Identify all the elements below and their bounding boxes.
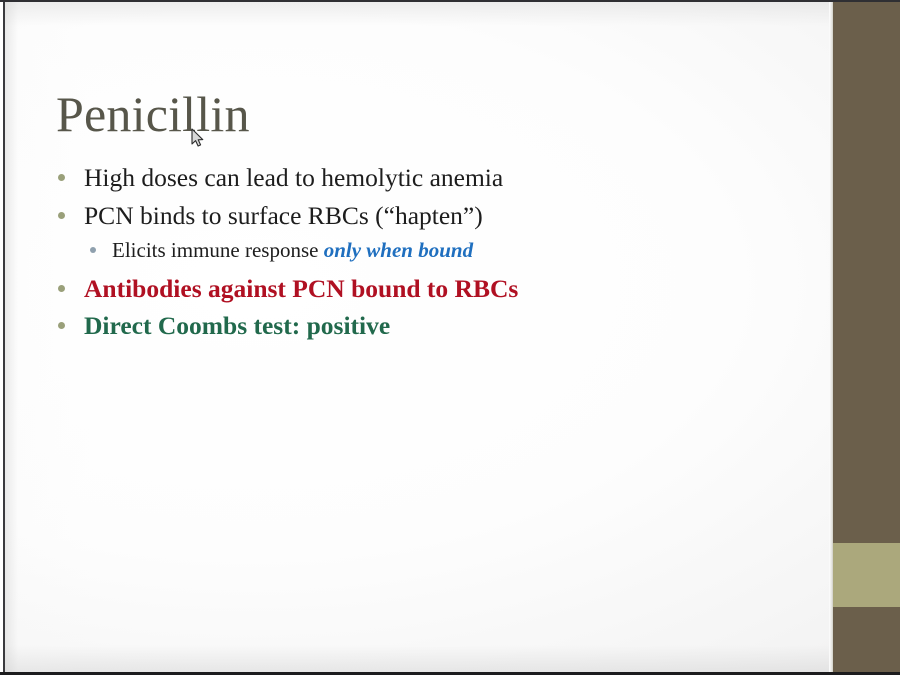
page-title: Penicillin (56, 87, 250, 141)
frame-edge-left (3, 0, 5, 675)
sidebar-accent-block (833, 543, 900, 607)
sub-list-item: Elicits immune response only when bound (58, 239, 758, 263)
bullet-dot-icon (58, 322, 65, 329)
list-item-label: PCN binds to surface RBCs (“hapten”) (84, 202, 483, 231)
list-item: Antibodies against PCN bound to RBCs (58, 275, 758, 304)
list-item: Direct Coombs test: positive (58, 312, 758, 341)
decorative-sidebar (833, 2, 900, 672)
sub-list-item-emphasis: only when bound (324, 238, 473, 262)
slide-canvas: Penicillin High doses can lead to hemoly… (0, 0, 900, 675)
bullet-dot-icon (58, 285, 65, 292)
list-item: PCN binds to surface RBCs (“hapten”) (58, 202, 758, 231)
bullet-dot-icon (58, 174, 65, 181)
list-item-label: Antibodies against PCN bound to RBCs (84, 275, 518, 304)
sub-list-item-text: Elicits immune response (112, 238, 324, 262)
sub-bullet-dot-icon (90, 247, 96, 253)
list-item: High doses can lead to hemolytic anemia (58, 164, 758, 193)
list-item-label: Direct Coombs test: positive (84, 312, 390, 341)
frame-edge-top (0, 0, 900, 2)
list-item-label: High doses can lead to hemolytic anemia (84, 164, 503, 193)
bullet-dot-icon (58, 212, 65, 219)
bullet-list: High doses can lead to hemolytic anemia … (58, 164, 758, 350)
sub-list-item-label: Elicits immune response only when bound (112, 239, 473, 263)
